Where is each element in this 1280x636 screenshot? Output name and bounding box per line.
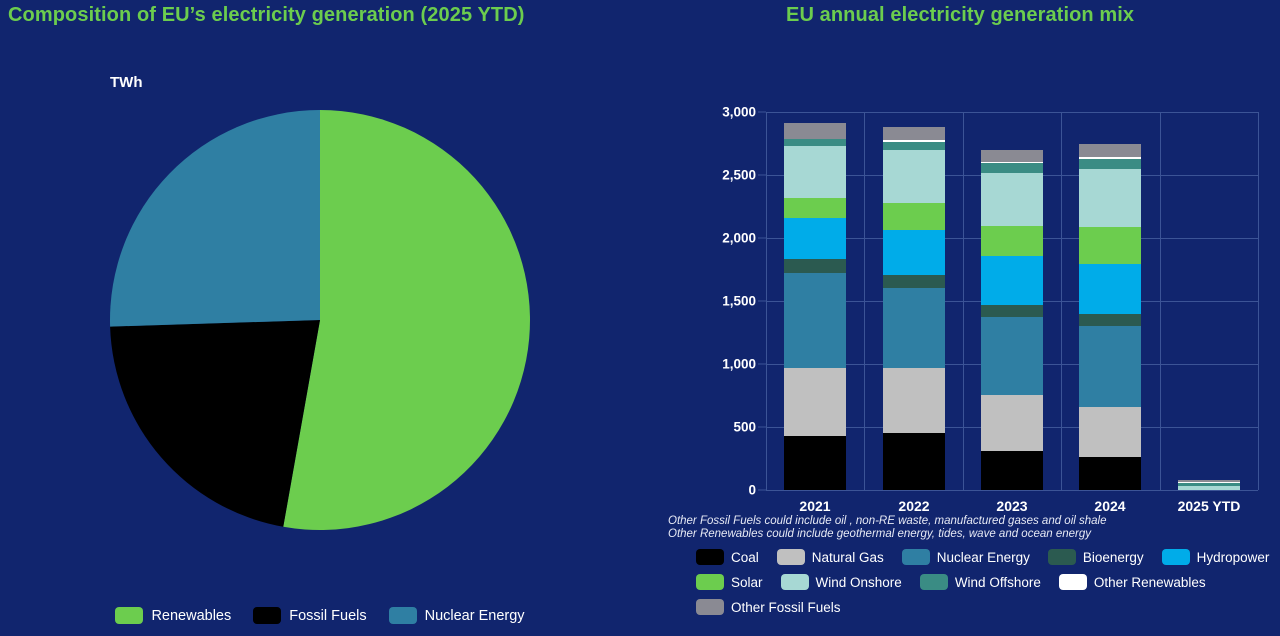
y-axis-unit-label: TWh bbox=[110, 74, 142, 91]
bar-column-2024[interactable] bbox=[1079, 144, 1141, 490]
pie-legend: RenewablesFossil FuelsNuclear Energy bbox=[0, 607, 640, 624]
bar-segment-nuclear-energy[interactable] bbox=[784, 273, 846, 369]
bar-legend-label: Other Renewables bbox=[1094, 575, 1206, 590]
legend-swatch-icon bbox=[1162, 549, 1190, 565]
bar-segment-other-fossil-fuels[interactable] bbox=[981, 150, 1043, 163]
bar-segment-coal[interactable] bbox=[784, 436, 846, 490]
bar-segment-hydropower[interactable] bbox=[1079, 264, 1141, 314]
bar-legend-item-hydropower[interactable]: Hydropower bbox=[1162, 549, 1270, 565]
bar-legend-item-nuclear-energy[interactable]: Nuclear Energy bbox=[902, 549, 1030, 565]
bar-legend: CoalNatural GasNuclear EnergyBioenergyHy… bbox=[696, 549, 1280, 624]
y-axis-tick-label: 1,500 bbox=[722, 294, 766, 309]
x-gridline bbox=[1160, 112, 1161, 490]
legend-swatch-icon bbox=[253, 607, 281, 624]
bar-segment-nuclear-energy[interactable] bbox=[981, 317, 1043, 395]
pie-chart-title: Composition of EU’s electricity generati… bbox=[8, 4, 525, 27]
bar-segment-wind-offshore[interactable] bbox=[981, 163, 1043, 172]
bar-segment-wind-offshore[interactable] bbox=[883, 142, 945, 150]
legend-swatch-icon bbox=[696, 549, 724, 565]
bar-segment-wind-onshore[interactable] bbox=[981, 173, 1043, 227]
x-axis-tick-label: 2022 bbox=[868, 498, 960, 514]
bar-segment-wind-onshore[interactable] bbox=[1079, 169, 1141, 227]
bar-column-2021[interactable] bbox=[784, 123, 846, 490]
bar-segment-natural-gas[interactable] bbox=[784, 368, 846, 436]
y-axis-tick-label: 2,500 bbox=[722, 168, 766, 183]
bar-legend-row: SolarWind OnshoreWind OffshoreOther Rene… bbox=[696, 574, 1280, 590]
pie-slice-renewables[interactable] bbox=[283, 110, 530, 530]
legend-swatch-icon bbox=[696, 599, 724, 615]
bar-segment-solar[interactable] bbox=[883, 203, 945, 231]
bar-segment-wind-offshore[interactable] bbox=[784, 139, 846, 147]
x-gridline bbox=[963, 112, 964, 490]
x-gridline bbox=[1258, 112, 1259, 490]
y-gridline bbox=[766, 490, 1258, 491]
pie-legend-item-renewables[interactable]: Renewables bbox=[115, 607, 231, 624]
pie-legend-item-fossil-fuels[interactable]: Fossil Fuels bbox=[253, 607, 366, 624]
chart-footnote: Other Fossil Fuels could include oil , n… bbox=[668, 515, 1107, 541]
bar-legend-label: Bioenergy bbox=[1083, 550, 1144, 565]
bar-segment-bioenergy[interactable] bbox=[784, 259, 846, 272]
legend-swatch-icon bbox=[115, 607, 143, 624]
bar-chart-plot-area: 05001,0001,5002,0002,5003,00020212022202… bbox=[766, 112, 1258, 490]
bar-legend-item-other-renewables[interactable]: Other Renewables bbox=[1059, 574, 1206, 590]
bar-segment-natural-gas[interactable] bbox=[1079, 407, 1141, 457]
bar-segment-solar[interactable] bbox=[981, 226, 1043, 256]
bar-segment-wind-onshore[interactable] bbox=[883, 150, 945, 203]
x-gridline bbox=[864, 112, 865, 490]
pie-legend-label: Fossil Fuels bbox=[289, 608, 366, 624]
bar-chart-title: EU annual electricity generation mix bbox=[786, 4, 1134, 27]
bar-legend-label: Coal bbox=[731, 550, 759, 565]
pie-legend-item-nuclear-energy[interactable]: Nuclear Energy bbox=[389, 607, 525, 624]
bar-legend-item-coal[interactable]: Coal bbox=[696, 549, 759, 565]
bar-segment-hydropower[interactable] bbox=[784, 218, 846, 260]
bar-legend-item-natural-gas[interactable]: Natural Gas bbox=[777, 549, 884, 565]
pie-slice-fossil-fuels[interactable] bbox=[110, 320, 320, 527]
bar-legend-label: Solar bbox=[731, 575, 763, 590]
pie-legend-label: Nuclear Energy bbox=[425, 608, 525, 624]
bar-legend-item-solar[interactable]: Solar bbox=[696, 574, 763, 590]
pie-legend-label: Renewables bbox=[151, 608, 231, 624]
bar-segment-bioenergy[interactable] bbox=[1079, 314, 1141, 326]
bar-segment-hydropower[interactable] bbox=[981, 256, 1043, 305]
x-axis-tick-label: 2021 bbox=[769, 498, 861, 514]
legend-swatch-icon bbox=[920, 574, 948, 590]
bar-segment-other-fossil-fuels[interactable] bbox=[883, 127, 945, 141]
bar-column-2023[interactable] bbox=[981, 150, 1043, 490]
legend-swatch-icon bbox=[777, 549, 805, 565]
bar-legend-row: Other Fossil Fuels bbox=[696, 599, 1280, 615]
x-gridline bbox=[1061, 112, 1062, 490]
bar-column-2022[interactable] bbox=[883, 127, 945, 490]
bar-legend-label: Wind Onshore bbox=[816, 575, 902, 590]
bar-segment-coal[interactable] bbox=[1079, 457, 1141, 490]
bar-segment-nuclear-energy[interactable] bbox=[1079, 326, 1141, 407]
bar-segment-coal[interactable] bbox=[883, 433, 945, 490]
bar-segment-natural-gas[interactable] bbox=[981, 395, 1043, 451]
legend-swatch-icon bbox=[902, 549, 930, 565]
bar-legend-label: Natural Gas bbox=[812, 550, 884, 565]
legend-swatch-icon bbox=[389, 607, 417, 624]
footnote-line-2: Other Renewables could include geotherma… bbox=[668, 528, 1107, 541]
bar-legend-label: Other Fossil Fuels bbox=[731, 600, 841, 615]
bar-legend-item-wind-offshore[interactable]: Wind Offshore bbox=[920, 574, 1041, 590]
bar-segment-other-fossil-fuels[interactable] bbox=[1079, 144, 1141, 157]
bar-legend-item-wind-onshore[interactable]: Wind Onshore bbox=[781, 574, 902, 590]
x-gridline bbox=[766, 112, 767, 490]
bar-segment-coal[interactable] bbox=[981, 451, 1043, 490]
pie-chart bbox=[100, 100, 540, 540]
pie-slice-nuclear-energy[interactable] bbox=[110, 110, 320, 327]
legend-swatch-icon bbox=[1048, 549, 1076, 565]
bar-segment-nuclear-energy[interactable] bbox=[883, 288, 945, 368]
bar-segment-wind-offshore[interactable] bbox=[1079, 159, 1141, 169]
legend-swatch-icon bbox=[1059, 574, 1087, 590]
bar-legend-label: Nuclear Energy bbox=[937, 550, 1030, 565]
y-axis-tick-label: 1,000 bbox=[722, 357, 766, 372]
y-axis-tick-label: 2,000 bbox=[722, 231, 766, 246]
y-axis-tick-label: 0 bbox=[748, 483, 766, 498]
bar-segment-other-fossil-fuels[interactable] bbox=[784, 123, 846, 139]
pie-chart-panel: RenewablesFossil FuelsNuclear Energy bbox=[0, 40, 640, 636]
bar-segment-bioenergy[interactable] bbox=[883, 275, 945, 288]
y-axis-tick-label: 500 bbox=[733, 420, 766, 435]
bar-legend-label: Wind Offshore bbox=[955, 575, 1041, 590]
x-axis-tick-label: 2023 bbox=[966, 498, 1058, 514]
bar-segment-wind-onshore[interactable] bbox=[1178, 486, 1240, 490]
bar-column-2025-ytd[interactable] bbox=[1178, 480, 1240, 490]
bar-segment-natural-gas[interactable] bbox=[883, 368, 945, 434]
y-gridline bbox=[766, 112, 1258, 113]
bar-segment-hydropower[interactable] bbox=[883, 230, 945, 274]
footnote-line-1: Other Fossil Fuels could include oil , n… bbox=[668, 515, 1107, 528]
x-axis-tick-label: 2024 bbox=[1064, 498, 1156, 514]
bar-segment-solar[interactable] bbox=[784, 198, 846, 218]
bar-segment-wind-onshore[interactable] bbox=[784, 146, 846, 198]
bar-legend-row: CoalNatural GasNuclear EnergyBioenergyHy… bbox=[696, 549, 1280, 565]
y-axis-tick-label: 3,000 bbox=[722, 105, 766, 120]
bar-segment-bioenergy[interactable] bbox=[981, 305, 1043, 316]
x-axis-tick-label: 2025 YTD bbox=[1163, 498, 1255, 514]
bar-legend-item-other-fossil-fuels[interactable]: Other Fossil Fuels bbox=[696, 599, 841, 615]
bar-legend-label: Hydropower bbox=[1197, 550, 1270, 565]
bar-legend-item-bioenergy[interactable]: Bioenergy bbox=[1048, 549, 1144, 565]
legend-swatch-icon bbox=[781, 574, 809, 590]
bar-segment-solar[interactable] bbox=[1079, 227, 1141, 264]
legend-swatch-icon bbox=[696, 574, 724, 590]
